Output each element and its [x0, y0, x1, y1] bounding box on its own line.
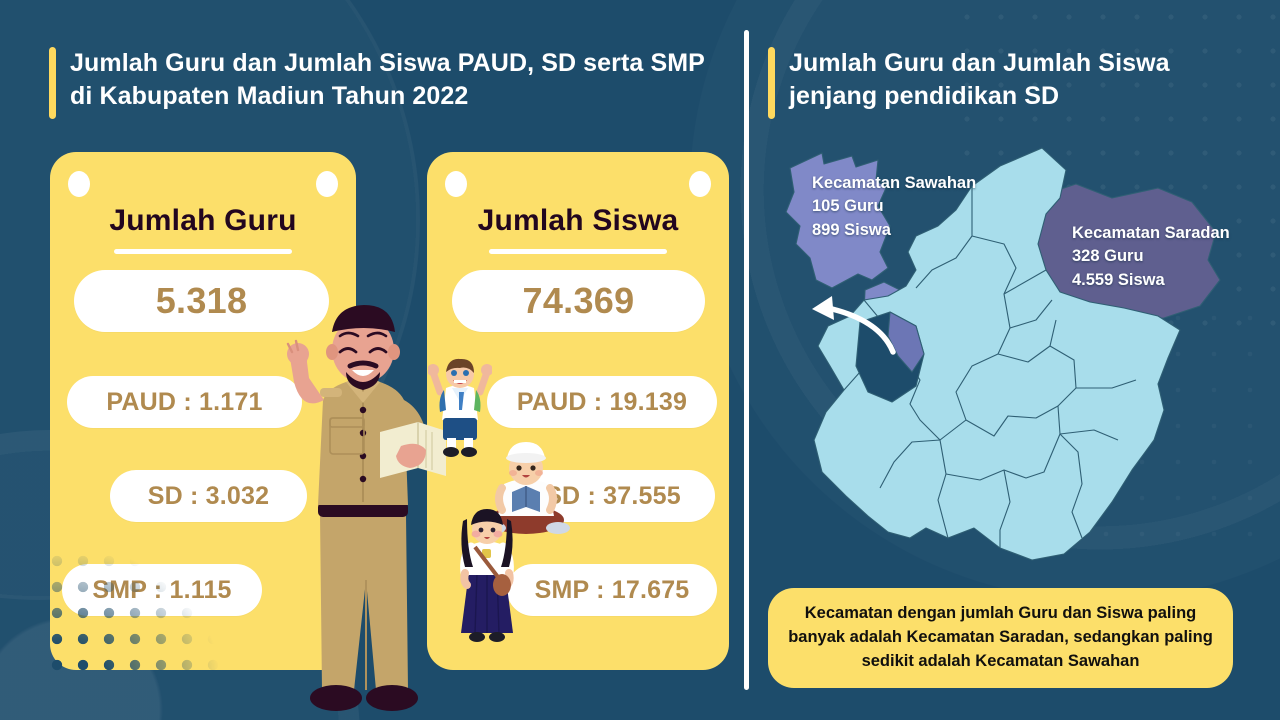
card-underline [114, 249, 292, 254]
smp-student-illustration-icon [455, 505, 519, 645]
card-hole-left-icon [445, 171, 467, 197]
siswa-smp-value: SMP : 17.675 [507, 564, 717, 616]
card-underline [489, 249, 667, 254]
guru-paud-value: PAUD : 1.171 [67, 376, 302, 428]
title-accent-bar [49, 47, 56, 119]
summary-note: Kecamatan dengan jumlah Guru dan Siswa p… [768, 588, 1233, 688]
card-heading: Jumlah Guru [50, 204, 356, 238]
map-label-sawahan-name: Kecamatan Sawahan [812, 172, 976, 195]
card-heading: Jumlah Siswa [427, 204, 729, 238]
right-panel-title: Jumlah Guru dan Jumlah Siswa jenjang pen… [768, 47, 1238, 119]
siswa-total-value: 74.369 [452, 270, 705, 332]
right-title-text: Jumlah Guru dan Jumlah Siswa jenjang pen… [789, 47, 1238, 114]
panel-divider [744, 30, 749, 690]
left-panel-title: Jumlah Guru dan Jumlah Siswa PAUD, SD se… [49, 47, 709, 119]
map-label-saradan-name: Kecamatan Saradan [1072, 222, 1230, 245]
card-hole-left-icon [68, 171, 90, 197]
card-hole-right-icon [316, 171, 338, 197]
siswa-paud-value: PAUD : 19.139 [487, 376, 717, 428]
map-label-sawahan-teachers: 105 Guru [812, 195, 976, 218]
map-label-sawahan: Kecamatan Sawahan 105 Guru 899 Siswa [812, 172, 976, 242]
infographic-canvas: Jumlah Guru dan Jumlah Siswa PAUD, SD se… [0, 0, 1280, 720]
map-label-saradan-students: 4.559 Siswa [1072, 269, 1230, 292]
title-accent-bar [768, 47, 775, 119]
left-title-text: Jumlah Guru dan Jumlah Siswa PAUD, SD se… [70, 47, 709, 114]
map-label-sawahan-students: 899 Siswa [812, 219, 976, 242]
map-label-saradan-teachers: 328 Guru [1072, 245, 1230, 268]
card-hole-right-icon [689, 171, 711, 197]
map-label-saradan: Kecamatan Saradan 328 Guru 4.559 Siswa [1072, 222, 1230, 292]
guru-smp-value: SMP : 1.115 [62, 564, 262, 616]
map-arrow-head [812, 296, 834, 320]
